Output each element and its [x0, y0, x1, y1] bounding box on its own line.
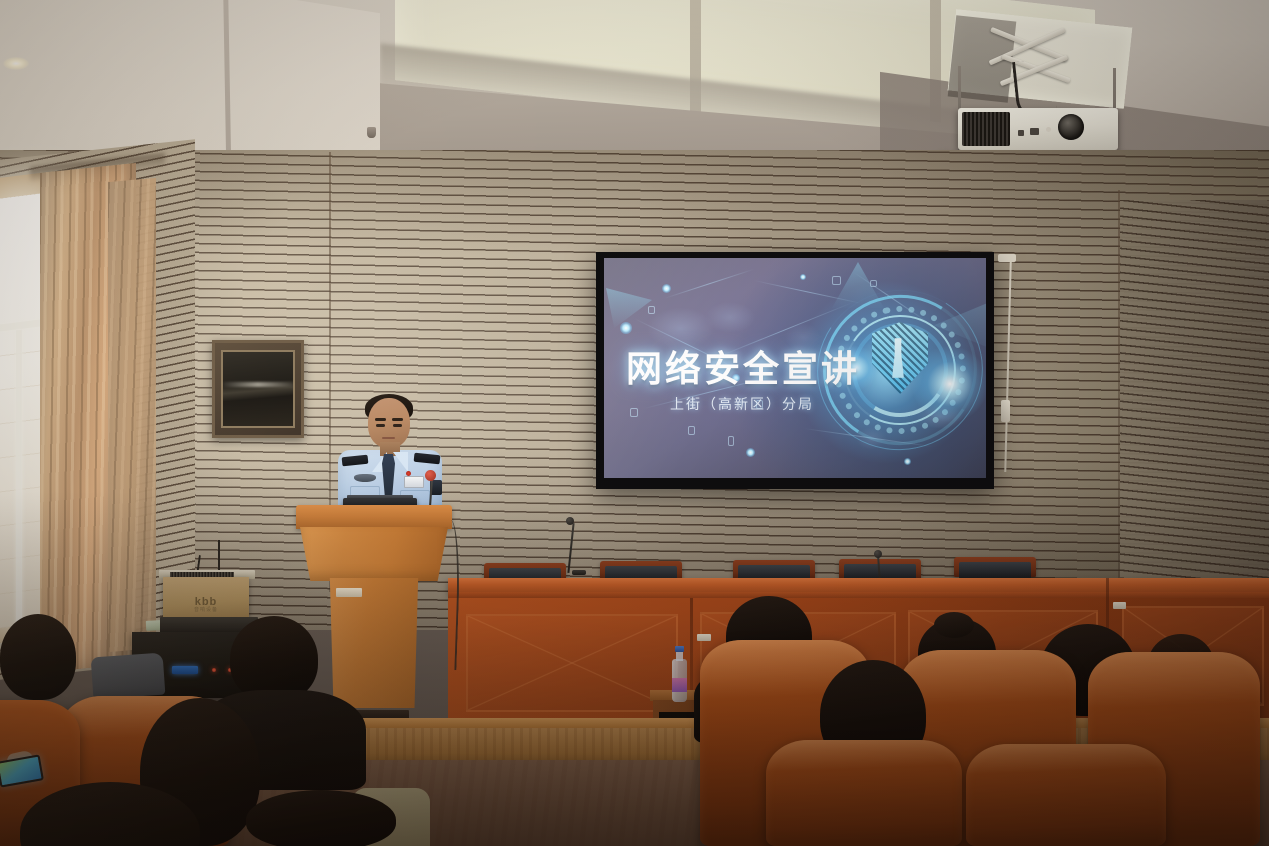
cord-anchor: [998, 254, 1016, 262]
equipment-box-sublabel: 音响设备: [175, 606, 237, 613]
microphone-base: [572, 570, 586, 575]
presidium-chair-seat: [959, 562, 1031, 579]
table-label-tag: [697, 634, 711, 641]
microphone-head: [874, 550, 882, 558]
table-label-tag: [1113, 602, 1126, 609]
network-node: [620, 322, 632, 334]
eyebrow: [375, 418, 386, 421]
downlight: [3, 57, 29, 70]
network-node: [904, 458, 911, 465]
auditorium-scene: 网络安全宣讲 上街（高新区）分局: [0, 0, 1269, 846]
audience-head: [0, 614, 76, 700]
bottle-cap: [675, 646, 684, 652]
pull-cord-weight[interactable]: [1001, 400, 1010, 422]
eyebrow: [392, 418, 403, 421]
hud-user-icon: [648, 306, 655, 314]
sprinkler-head: [367, 127, 376, 138]
hud-phone-icon: [728, 436, 734, 446]
podium-body: [300, 527, 448, 581]
projector-port: [1030, 128, 1039, 135]
bottle-neck: [676, 651, 683, 661]
amplifier-display: [172, 666, 198, 674]
seat-highlight: [966, 744, 1166, 846]
wall-display-glare: [223, 382, 293, 387]
projection-screen: 网络安全宣讲 上街（高新区）分局: [604, 258, 986, 478]
podium-base: [328, 578, 420, 708]
table-decor-panel: [466, 614, 678, 712]
uniform-wing-badge: [354, 474, 376, 482]
wall-right-section: [1120, 200, 1269, 620]
podium-plate: [336, 588, 362, 597]
bottle-label: [672, 678, 687, 692]
slide-subtitle: 上街（高新区）分局: [670, 394, 814, 414]
eye: [376, 424, 385, 427]
projector-vent-grille: [962, 112, 1010, 146]
seat-highlight: [766, 740, 962, 846]
status-led: [212, 668, 216, 672]
microphone-head: [566, 517, 574, 525]
slide-title: 网络安全宣讲: [626, 340, 860, 392]
hud-device-icon: [688, 426, 695, 435]
network-node: [662, 284, 671, 293]
backpack: [91, 653, 166, 700]
projector-lens: [1058, 114, 1084, 140]
hair-bun: [934, 612, 974, 638]
shirt-collar-right: [393, 452, 408, 472]
audience-head-foreground: [246, 790, 396, 846]
wall-display-glass: [221, 350, 295, 428]
projector-indicator: [1046, 127, 1051, 132]
network-node: [800, 274, 806, 280]
wall-seam: [1118, 190, 1120, 590]
podium-microphone-head: [425, 470, 436, 481]
network-node: [746, 448, 755, 457]
police-emblem: [406, 471, 411, 476]
eye: [393, 424, 402, 427]
mouth: [382, 437, 395, 439]
window-curtain-secondary[interactable]: [108, 178, 156, 652]
projector-port: [1018, 130, 1024, 136]
glow-burst: [912, 346, 986, 422]
hud-device-icon: [630, 408, 638, 417]
podium-top: [296, 505, 452, 529]
window-mullion: [16, 330, 22, 627]
officer-head: [368, 398, 410, 448]
name-badge: [404, 476, 424, 488]
